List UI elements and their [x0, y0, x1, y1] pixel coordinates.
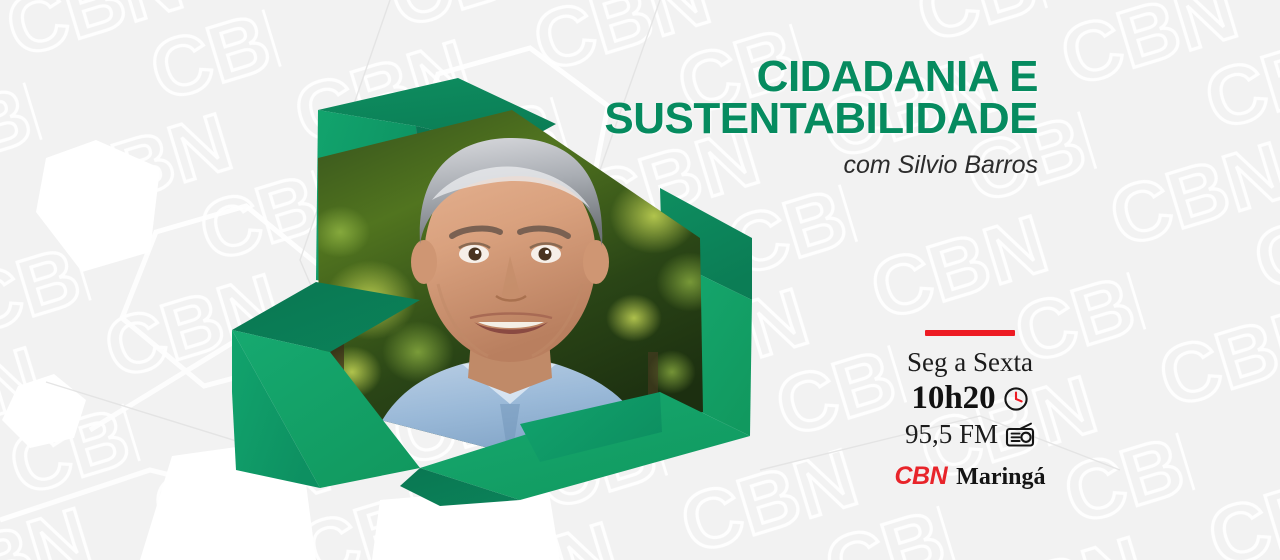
- schedule-divider-rule: [925, 330, 1015, 336]
- program-title-line-2: SUSTENTABILIDADE: [418, 98, 1038, 140]
- schedule-time-row: 10h20: [880, 382, 1060, 415]
- station-city-name: Maringá: [956, 464, 1045, 491]
- schedule-days: Seg a Sexta: [880, 348, 1060, 376]
- schedule-frequency-row: 95,5 FM: [880, 421, 1060, 448]
- schedule-time: 10h20: [911, 382, 995, 415]
- program-title-block: CIDADANIA E SUSTENTABILIDADE com Silvio …: [418, 56, 1038, 180]
- program-host-line: com Silvio Barros: [418, 151, 1038, 180]
- radio-program-banner: CBN CBN: [0, 0, 1280, 560]
- schedule-frequency: 95,5 FM: [905, 421, 998, 448]
- station-logo: CBN Maringá: [880, 462, 1060, 491]
- station-network-name: CBN: [895, 462, 948, 491]
- schedule-block: Seg a Sexta 10h20 95,5 FM CBN Maringá: [880, 330, 1060, 491]
- radio-icon: [1005, 422, 1035, 448]
- clock-icon: [1003, 386, 1029, 412]
- program-title-line-1: CIDADANIA E: [418, 56, 1038, 98]
